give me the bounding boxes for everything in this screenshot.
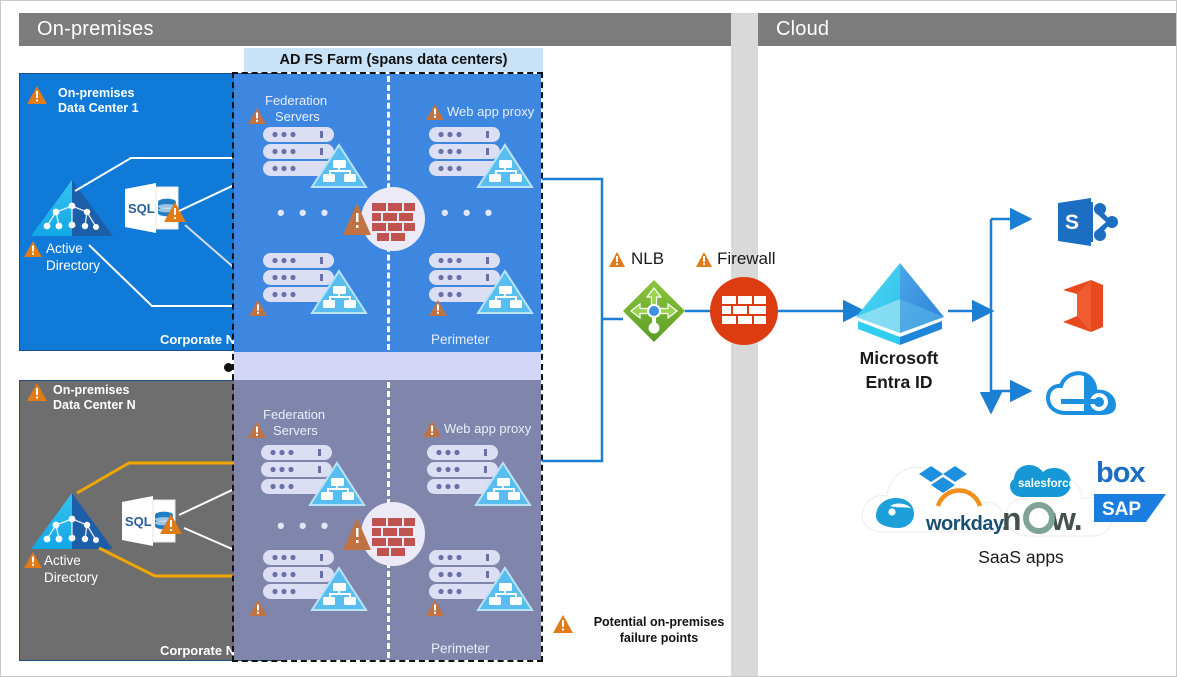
federation-ellipsis-upper: • • •: [277, 200, 332, 226]
warning-icon-nlb: [608, 251, 626, 268]
on-premises-label: On-premises: [37, 18, 154, 41]
warning-icon-federation-servers-bottom-upper: [248, 299, 268, 317]
architecture-diagram: On-premises Cloud On-premises Data Cente…: [0, 0, 1177, 677]
internal-firewall-icon-upper: [341, 186, 433, 252]
section-banner-on-premises: On-premises: [19, 13, 756, 46]
svg-text:S: S: [1065, 211, 1079, 234]
proxy-ellipsis-upper: • • •: [441, 200, 496, 226]
legend-label-line1: Potential on-premises: [579, 614, 739, 630]
section-banner-cloud: Cloud: [758, 13, 1177, 46]
saas-apps-label: SaaS apps: [906, 547, 1136, 568]
warning-icon-firewall: [695, 251, 713, 268]
svg-text:SAP: SAP: [1102, 499, 1141, 520]
adfs-farm-header-label: AD FS Farm (spans data centers): [279, 52, 507, 68]
entra-to-cloudapps-connector: [948, 206, 1058, 421]
server-stack-proxy-lower-1: [427, 445, 532, 508]
svg-text:workday.: workday.: [925, 513, 1007, 535]
svg-text:salesforce: salesforce: [1018, 478, 1075, 490]
svg-text:n: n: [1002, 501, 1021, 537]
warning-icon-web-app-proxy-lower: [422, 420, 442, 438]
legend-label: Potential on-premises failure points: [579, 614, 739, 646]
federation-servers-label-lower-line2: Servers: [263, 423, 325, 439]
nlb-label: NLB: [631, 249, 664, 269]
federation-servers-label-upper-line1: Federation: [265, 93, 327, 109]
cloud-label: Cloud: [776, 18, 829, 41]
entra-id-label-line2: Entra ID: [837, 370, 961, 394]
nlb-diamond-icon: [621, 278, 687, 344]
web-app-proxy-label-upper: Web app proxy: [447, 104, 534, 120]
adfs-farm-header: AD FS Farm (spans data centers): [244, 48, 543, 72]
federation-ellipsis-lower: • • •: [277, 513, 332, 539]
warning-icon-web-app-proxy-bottom-upper: [428, 299, 448, 317]
azure-cloud-icon: [1045, 367, 1119, 419]
federation-servers-label-upper: Federation Servers: [265, 93, 327, 125]
office-365-icon: [1057, 278, 1109, 334]
entra-id-label: Microsoft Entra ID: [837, 346, 961, 394]
perimeter-label-upper: Perimeter: [431, 332, 490, 347]
firewall-circle-icon: [709, 276, 779, 346]
server-stack-federation-upper-2: [263, 253, 368, 316]
server-stack-proxy-upper-1: [429, 127, 534, 190]
svg-text:box: box: [1096, 457, 1145, 489]
warning-icon-web-app-proxy-bottom-lower: [425, 599, 445, 617]
legend-warning-triangle-icon: [552, 614, 574, 634]
federation-servers-label-lower: Federation Servers: [263, 407, 325, 439]
perimeter-label-lower: Perimeter: [431, 641, 490, 656]
federation-servers-label-lower-line1: Federation: [263, 407, 325, 423]
warning-icon-web-app-proxy-upper: [425, 103, 445, 121]
federation-servers-label-upper-line2: Servers: [265, 109, 327, 125]
sharepoint-icon: S: [1056, 196, 1118, 248]
legend-label-line2: failure points: [579, 630, 739, 646]
firewall-label: Firewall: [717, 249, 776, 269]
web-app-proxy-label-lower: Web app proxy: [444, 421, 531, 437]
adfs-farm-zone-middle: [234, 352, 541, 380]
internal-firewall-icon-lower: [341, 501, 433, 567]
entra-id-label-line1: Microsoft: [837, 346, 961, 370]
server-stack-federation-lower-1: [261, 445, 366, 508]
entra-id-pyramid-icon: [852, 259, 948, 347]
saas-apps-cloud-group: workday. salesforce n w. box SAP: [856, 444, 1166, 554]
server-stack-federation-upper-1: [263, 127, 368, 190]
warning-icon-federation-servers-bottom-lower: [248, 599, 268, 617]
warning-icon-federation-servers-upper: [247, 107, 267, 125]
